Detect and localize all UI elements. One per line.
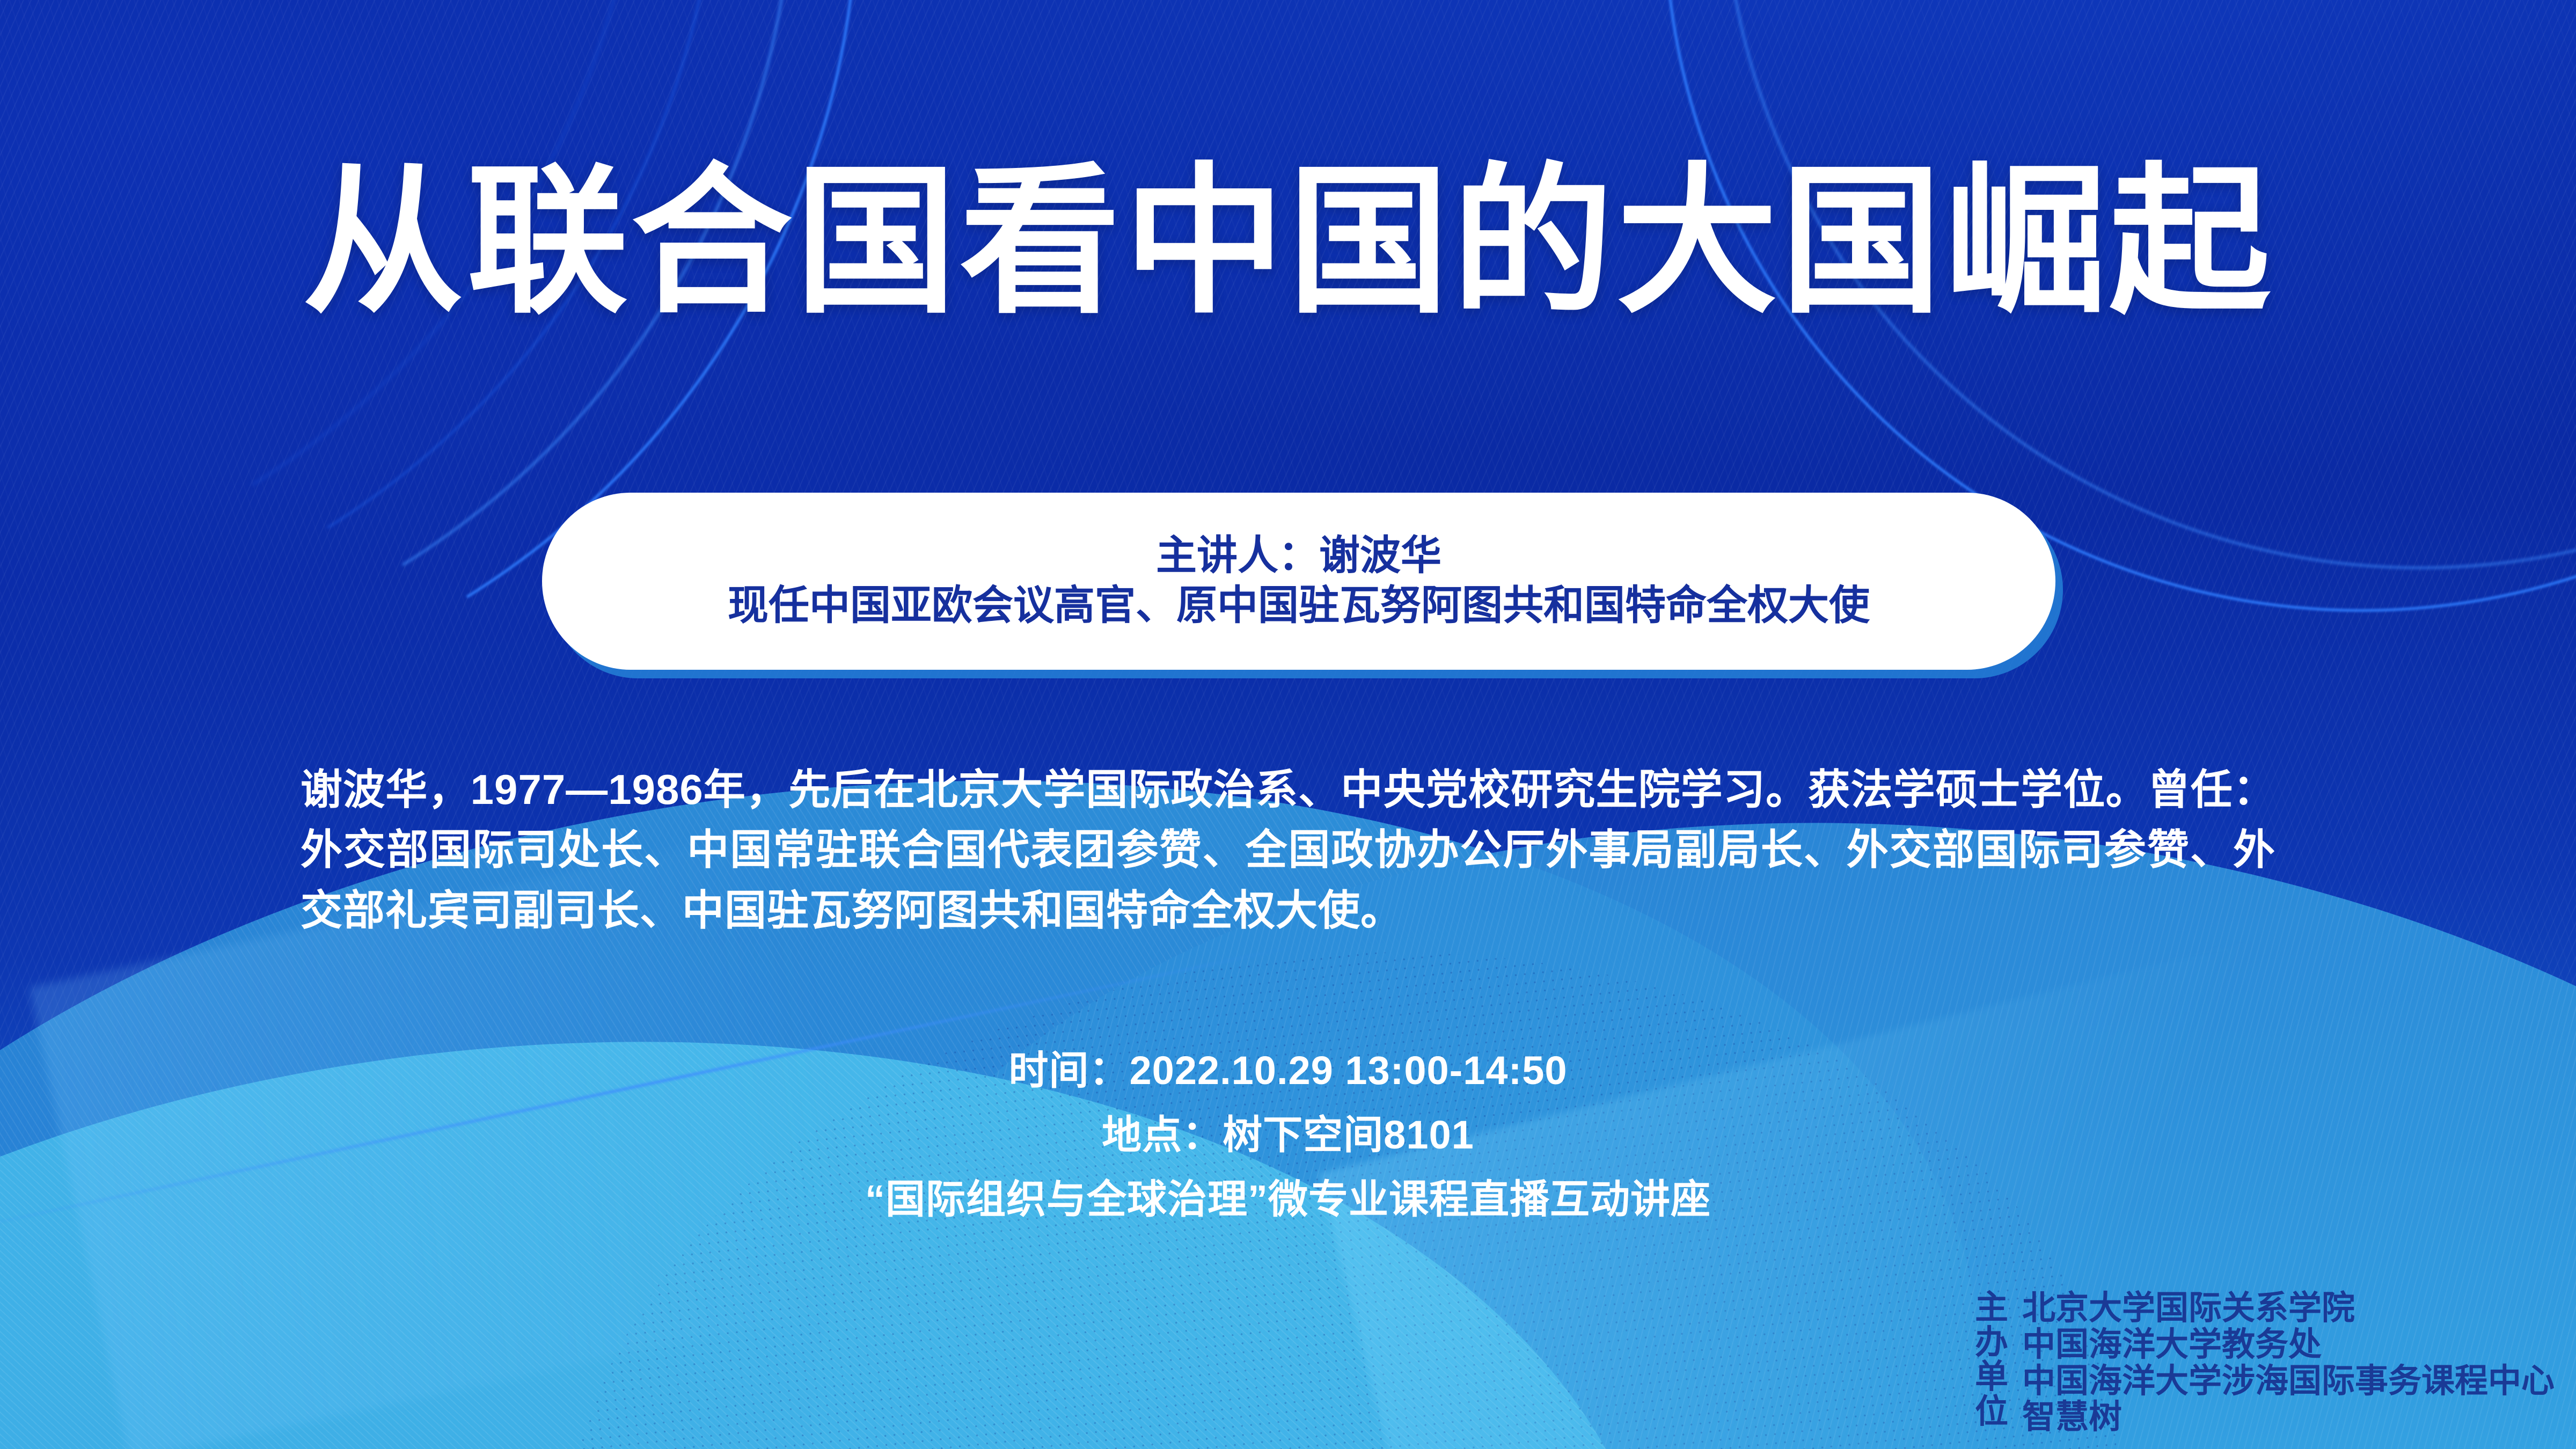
speaker-role: 现任中国亚欧会议高官、原中国驻瓦努阿图共和国特命全权大使 (728, 582, 1870, 630)
organizer-item: 中国海洋大学教务处 (2022, 1327, 2555, 1363)
event-info: 时间：2022.10.29 13:00-14:50 地点：树下空间8101 “国… (0, 1038, 2576, 1232)
organizers-label: 主 办 单 位 (1974, 1291, 2009, 1429)
organizers-list: 北京大学国际关系学院 中国海洋大学教务处 中国海洋大学涉海国际事务课程中心 智慧… (2022, 1291, 2555, 1436)
organizer-item: 北京大学国际关系学院 (2022, 1291, 2555, 1326)
event-location: 地点：树下空间8101 (0, 1103, 2576, 1167)
speaker-biography: 谢波华，1977—1986年，先后在北京大学国际政治系、中央党校研究生院学习。获… (301, 759, 2275, 940)
page-title: 从联合国看中国的大国崛起 (0, 161, 2576, 322)
speaker-name: 主讲人：谢波华 (1156, 533, 1441, 579)
event-time: 时间：2022.10.29 13:00-14:50 (0, 1038, 2576, 1103)
organizers-label-char: 主 (1974, 1291, 2009, 1325)
poster-canvas: 从联合国看中国的大国崛起 主讲人：谢波华 现任中国亚欧会议高官、原中国驻瓦努阿图… (0, 0, 2576, 1449)
organizer-item: 智慧树 (2022, 1400, 2555, 1435)
speaker-card: 主讲人：谢波华 现任中国亚欧会议高官、原中国驻瓦努阿图共和国特命全权大使 (542, 493, 2055, 670)
organizers-label-char: 单 (1974, 1360, 2009, 1394)
organizers-block: 主 办 单 位 北京大学国际关系学院 中国海洋大学教务处 中国海洋大学涉海国际事… (1974, 1291, 2555, 1436)
organizers-label-char: 位 (1974, 1395, 2009, 1429)
poster-content: 从联合国看中国的大国崛起 主讲人：谢波华 现任中国亚欧会议高官、原中国驻瓦努阿图… (0, 0, 2576, 1449)
organizers-label-char: 办 (1974, 1326, 2009, 1360)
event-series: “国际组织与全球治理”微专业课程直播互动讲座 (0, 1167, 2576, 1232)
organizer-item: 中国海洋大学涉海国际事务课程中心 (2022, 1364, 2555, 1399)
